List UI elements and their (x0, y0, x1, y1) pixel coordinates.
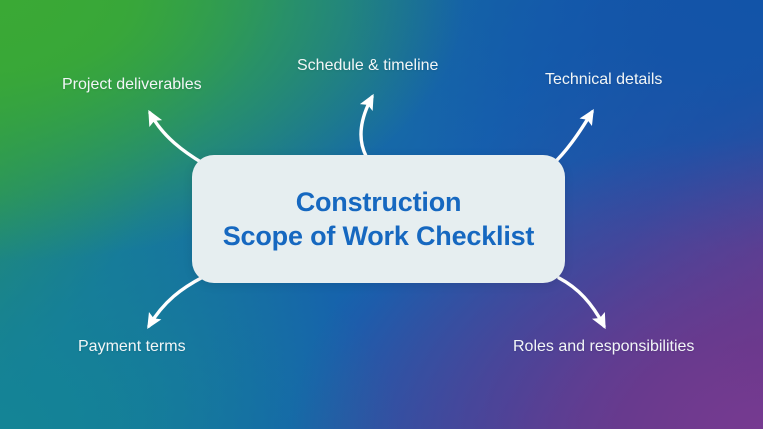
infographic-canvas: Construction Scope of Work Checklist Pro… (0, 0, 763, 429)
center-card-title-line-2: Scope of Work Checklist (223, 219, 534, 253)
node-label-roles-responsibilities: Roles and responsibilities (513, 337, 694, 357)
arrow-to-schedule-timeline (361, 97, 372, 156)
node-label-schedule-timeline: Schedule & timeline (297, 56, 438, 76)
node-label-technical-details: Technical details (545, 70, 662, 90)
node-label-payment-terms: Payment terms (78, 337, 186, 357)
arrow-to-project-deliverables (150, 113, 204, 164)
node-label-project-deliverables: Project deliverables (62, 75, 202, 95)
center-card-title-line-1: Construction (296, 185, 462, 219)
center-card: Construction Scope of Work Checklist (192, 155, 565, 283)
arrow-to-roles-responsibilities (559, 278, 604, 326)
arrow-to-technical-details (551, 112, 592, 166)
arrow-to-payment-terms (149, 277, 203, 326)
